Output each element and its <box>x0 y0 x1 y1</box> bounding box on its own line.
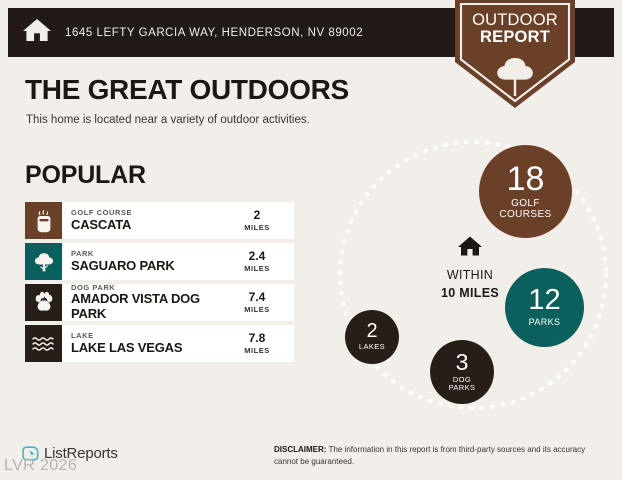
disclaimer-label: DISCLAIMER: <box>274 445 326 454</box>
list-item-text: LAKE LAKE LAS VEGAS <box>62 325 226 362</box>
home-icon <box>22 17 52 48</box>
list-item-name: CASCATA <box>71 218 226 233</box>
stat-label-line1: GOLF <box>511 198 540 209</box>
list-item-text: DOG PARK AMADOR VISTA DOG PARK <box>62 284 226 321</box>
popular-section-heading: POPULAR <box>25 161 146 190</box>
stat-label: PARKS <box>529 318 561 328</box>
within-10-miles-diagram: 18 GOLF COURSES 12 PARKS 2 LAKES 3 DOG P… <box>325 140 622 420</box>
stat-label-line2: PARKS <box>449 383 476 392</box>
list-item-name: AMADOR VISTA DOG PARK <box>71 292 226 321</box>
popular-list: GOLF COURSE CASCATA 2 MILES PARK SAGUARO… <box>25 202 294 366</box>
stat-value: 2 <box>366 322 377 341</box>
list-item[interactable]: DOG PARK AMADOR VISTA DOG PARK 7.4 MILES <box>25 284 294 321</box>
diagram-center-label: WITHIN 10 MILES <box>410 235 530 302</box>
home-icon <box>410 235 530 262</box>
distance-unit: MILES <box>244 346 269 356</box>
list-item-distance: 7.8 MILES <box>226 325 294 362</box>
page-subtitle: This home is located near a variety of o… <box>26 114 310 126</box>
distance-value: 7.4 <box>249 291 266 305</box>
distance-value: 2.4 <box>249 250 266 264</box>
stat-value: 12 <box>528 287 560 315</box>
distance-value: 2 <box>254 209 261 223</box>
stat-circle-dog-parks[interactable]: 3 DOG PARKS <box>430 340 494 404</box>
within-label-line1: WITHIN <box>447 268 493 282</box>
list-item-distance: 7.4 MILES <box>226 284 294 321</box>
list-item-distance: 2.4 MILES <box>226 243 294 280</box>
stat-label: LAKES <box>359 343 385 351</box>
stat-circle-golf-courses[interactable]: 18 GOLF COURSES <box>479 145 572 238</box>
distance-value: 7.8 <box>249 332 266 346</box>
stat-value: 3 <box>456 352 469 374</box>
list-item-text: PARK SAGUARO PARK <box>62 243 226 280</box>
watermark: LVR 2026 <box>4 457 77 475</box>
distance-unit: MILES <box>244 264 269 274</box>
list-item-text: GOLF COURSE CASCATA <box>62 202 226 239</box>
list-item[interactable]: GOLF COURSE CASCATA 2 MILES <box>25 202 294 239</box>
list-item-name: LAKE LAS VEGAS <box>71 341 226 356</box>
stat-value: 18 <box>507 163 545 195</box>
tree-icon <box>32 251 56 273</box>
outdoor-report-page: 1645 LEFTY GARCIA WAY, HENDERSON, NV 890… <box>0 0 622 480</box>
list-item-name: SAGUARO PARK <box>71 259 226 274</box>
list-item[interactable]: LAKE LAKE LAS VEGAS 7.8 MILES <box>25 325 294 362</box>
list-item[interactable]: PARK SAGUARO PARK 2.4 MILES <box>25 243 294 280</box>
list-item-tile <box>25 284 62 321</box>
within-label-line2: 10 MILES <box>441 286 499 300</box>
list-item-tile <box>25 202 62 239</box>
stat-label-line2: COURSES <box>499 209 551 220</box>
stat-label: DOG PARKS <box>449 376 476 393</box>
list-item-distance: 2 MILES <box>226 202 294 239</box>
distance-unit: MILES <box>244 305 269 315</box>
disclaimer: DISCLAIMER: The information in this repo… <box>274 444 594 467</box>
paw-icon <box>32 291 56 314</box>
golf-bag-icon <box>33 209 55 233</box>
property-address: 1645 LEFTY GARCIA WAY, HENDERSON, NV 890… <box>65 27 363 39</box>
page-title: THE GREAT OUTDOORS <box>25 74 349 106</box>
list-item-tile <box>25 243 62 280</box>
stat-label: GOLF COURSES <box>499 198 551 220</box>
waves-icon <box>31 334 57 354</box>
list-item-tile <box>25 325 62 362</box>
outdoor-report-badge: OUTDOOR REPORT <box>455 0 575 110</box>
distance-unit: MILES <box>244 223 269 233</box>
stat-circle-lakes[interactable]: 2 LAKES <box>345 310 399 364</box>
